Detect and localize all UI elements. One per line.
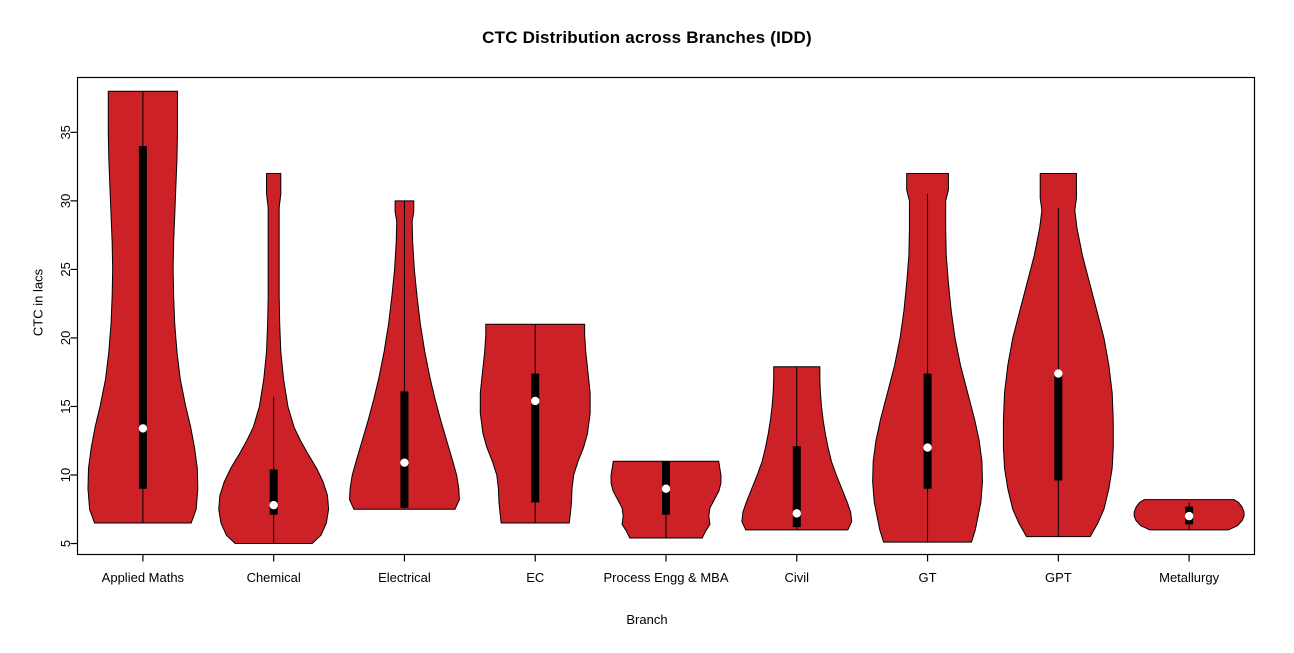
y-tick-label: 35 — [58, 125, 73, 139]
violin-applied-maths — [88, 91, 198, 523]
plot-area: 5101520253035 — [0, 0, 1294, 653]
violin-chemical — [219, 173, 329, 543]
iqr-box — [139, 146, 147, 489]
x-tick-label-8: Metallurgy — [1159, 570, 1219, 585]
violin-plot-figure: CTC Distribution across Branches (IDD) C… — [0, 0, 1294, 653]
median-marker — [793, 509, 801, 517]
iqr-box — [400, 391, 408, 508]
median-marker — [1054, 369, 1062, 377]
median-marker — [400, 458, 408, 466]
x-tick-label-0: Applied Maths — [102, 570, 184, 585]
x-tick-label-7: GPT — [1045, 570, 1072, 585]
median-marker — [531, 397, 539, 405]
median-marker — [139, 424, 147, 432]
y-tick-label: 30 — [58, 194, 73, 208]
violin-ec — [480, 324, 590, 523]
violin-electrical — [350, 201, 460, 509]
x-tick-label-4: Process Engg & MBA — [604, 570, 729, 585]
y-tick-label: 20 — [58, 331, 73, 345]
iqr-box — [531, 374, 539, 503]
x-tick-label-3: EC — [526, 570, 544, 585]
iqr-box — [1054, 374, 1062, 481]
median-marker — [662, 485, 670, 493]
median-marker — [269, 501, 277, 509]
median-marker — [923, 443, 931, 451]
violin-gpt — [1003, 173, 1113, 536]
x-tick-label-2: Electrical — [378, 570, 431, 585]
violin-process-engg-mba — [611, 461, 721, 538]
x-tick-label-5: Civil — [784, 570, 809, 585]
iqr-box — [924, 374, 932, 489]
x-tick-label-6: GT — [919, 570, 937, 585]
y-tick-label: 5 — [58, 540, 73, 547]
y-tick-label: 25 — [58, 262, 73, 276]
y-tick-label: 15 — [58, 399, 73, 413]
violin-metallurgy — [1134, 500, 1244, 530]
y-tick-label: 10 — [58, 468, 73, 482]
violin-gt — [873, 173, 983, 542]
median-marker — [1185, 512, 1193, 520]
x-tick-label-1: Chemical — [247, 570, 301, 585]
violin-civil — [742, 367, 852, 530]
